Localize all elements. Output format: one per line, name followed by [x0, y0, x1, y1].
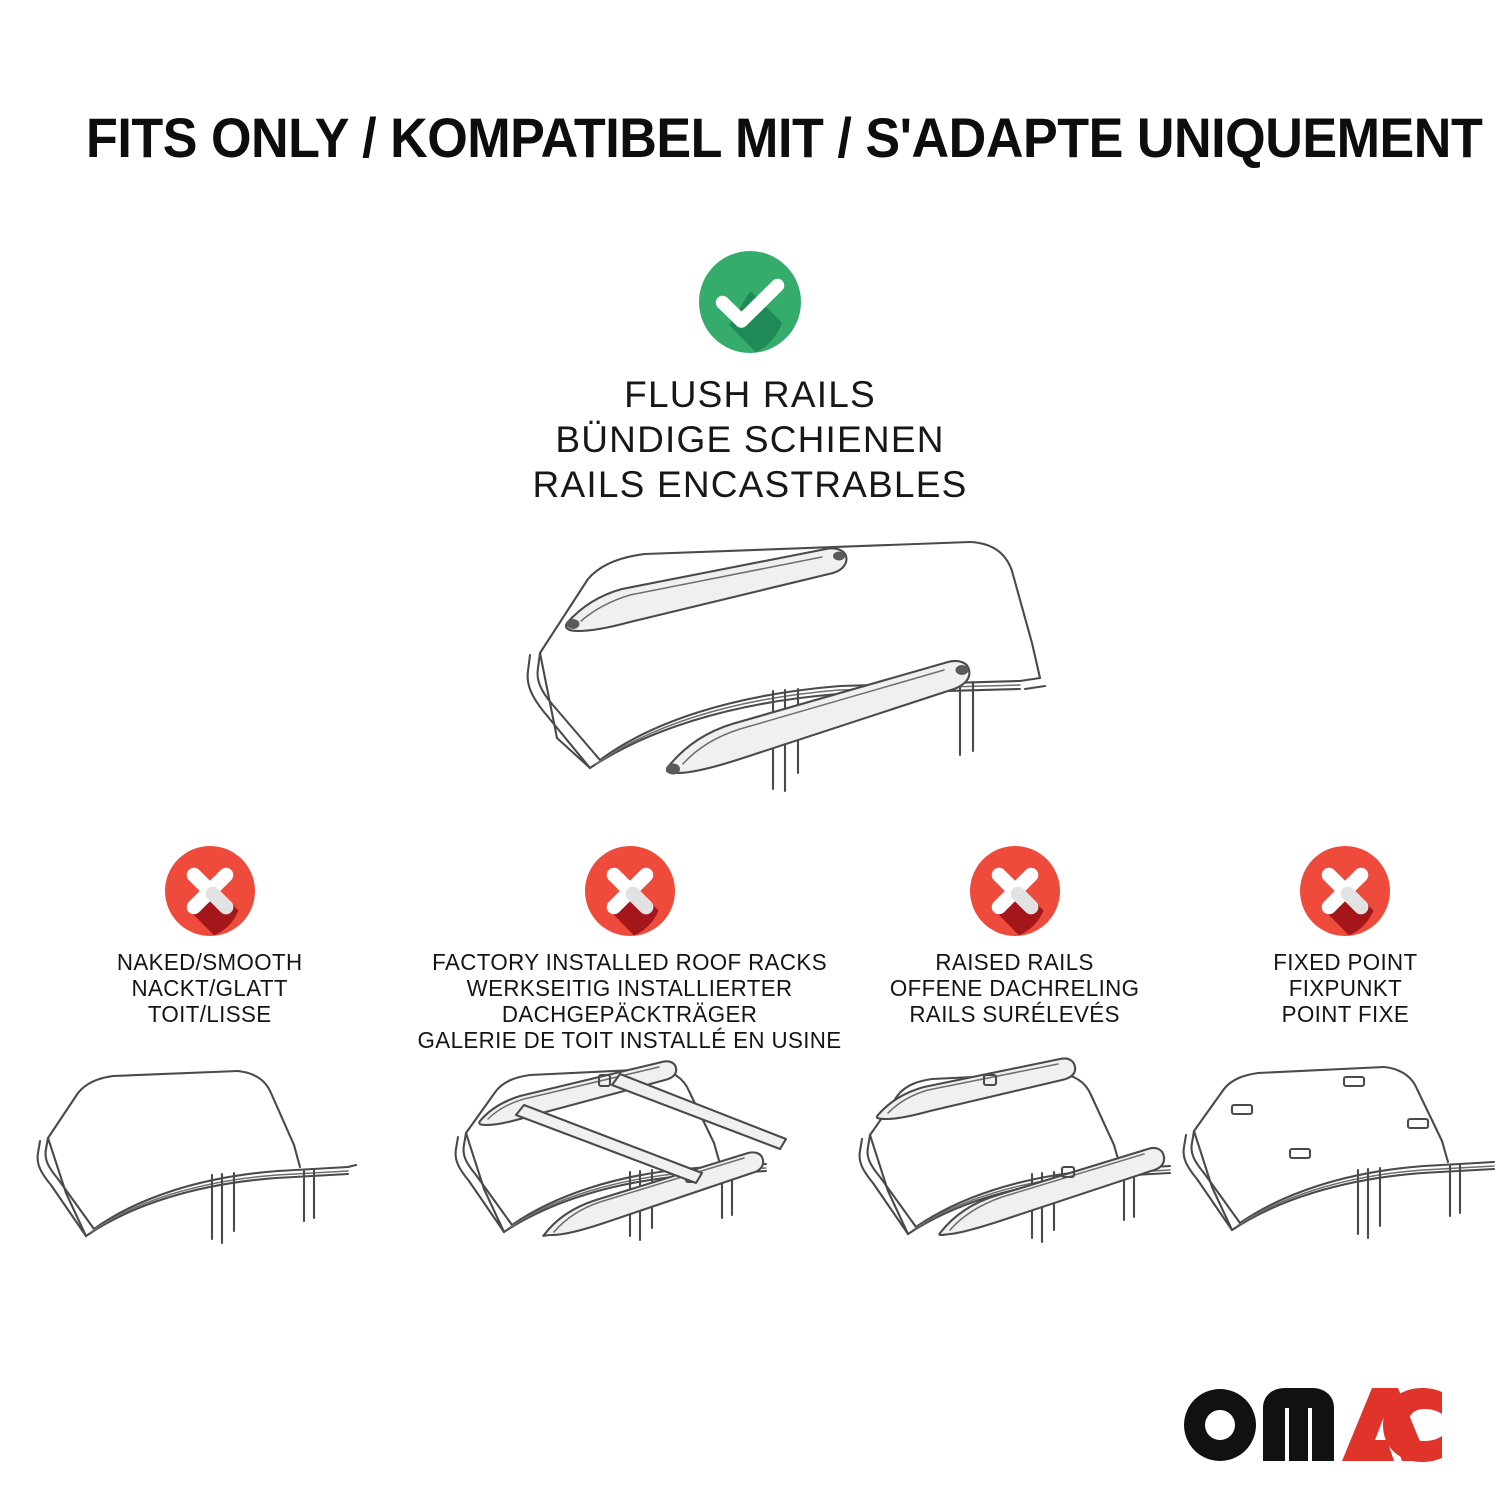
incompatible-caption: NAKED/SMOOTH NACKT/GLATT TOIT/LISSE [117, 949, 303, 1027]
car-roof-flush-rails-illustration [440, 523, 1060, 823]
caption-line-fr: TOIT/LISSE [117, 1001, 303, 1027]
omac-logo-svg [1184, 1388, 1442, 1462]
compatible-line-fr: RAILS ENCASTRABLES [533, 462, 968, 507]
x-circle-svg [969, 845, 1061, 937]
car-roof-naked-smooth-illustration [8, 1053, 408, 1293]
incompatible-caption: RAISED RAILS OFFENE DACHRELING RAILS SUR… [890, 949, 1140, 1027]
incompatible-item-naked-smooth: NAKED/SMOOTH NACKT/GLATT TOIT/LISSE [0, 845, 420, 1053]
x-circle-svg [584, 845, 676, 937]
car-roof-factory-roof-racks-illustration [424, 1053, 824, 1293]
incompatible-caption: FIXED POINT FIXPUNKT POINT FIXE [1273, 949, 1417, 1027]
car-roof-fixed-point-illustration [1162, 1053, 1500, 1293]
caption-line-de: NACKT/GLATT [117, 975, 303, 1001]
x-circle-icon [164, 845, 256, 937]
caption-line-fr: POINT FIXE [1273, 1001, 1417, 1027]
caption-line-fr: GALERIE DE TOIT INSTALLÉ EN USINE [418, 1027, 842, 1053]
caption-line-fr: RAILS SURÉLEVÉS [890, 1001, 1140, 1027]
x-circle-icon [1299, 845, 1391, 937]
car-roof-fixed-point-svg [1162, 1053, 1500, 1293]
caption-line-en: NAKED/SMOOTH [117, 949, 303, 975]
incompatible-item-fixed-point: FIXED POINT FIXPUNKT POINT FIXE [1190, 845, 1500, 1053]
x-circle-icon [584, 845, 676, 937]
compatible-section: FLUSH RAILS BÜNDIGE SCHIENEN RAILS ENCAS… [0, 250, 1500, 823]
incompatible-caption: FACTORY INSTALLED ROOF RACKS WERKSEITIG … [418, 949, 842, 1053]
check-circle-svg [698, 250, 802, 354]
car-roof-factory-roof-racks-svg [424, 1053, 824, 1293]
compatible-line-de: BÜNDIGE SCHIENEN [533, 417, 968, 462]
caption-line-de-2: DACHGEPÄCKTRÄGER [418, 1001, 842, 1027]
omac-logo [1184, 1388, 1442, 1462]
caption-line-en: FIXED POINT [1273, 949, 1417, 975]
incompatible-section: NAKED/SMOOTH NACKT/GLATT TOIT/LISSE [0, 845, 1500, 1053]
car-roof-flush-rails-svg [440, 523, 1060, 823]
incompatible-item-factory-roof-racks: FACTORY INSTALLED ROOF RACKS WERKSEITIG … [420, 845, 840, 1053]
x-circle-svg [1299, 845, 1391, 937]
check-circle-icon [698, 250, 802, 354]
caption-line-en: RAISED RAILS [890, 949, 1140, 975]
x-circle-svg [164, 845, 256, 937]
caption-line-de: OFFENE DACHRELING [890, 975, 1140, 1001]
incompatible-item-raised-rails: RAISED RAILS OFFENE DACHRELING RAILS SUR… [840, 845, 1190, 1053]
compatible-caption: FLUSH RAILS BÜNDIGE SCHIENEN RAILS ENCAS… [533, 372, 968, 507]
car-roof-naked-smooth-svg [8, 1053, 408, 1293]
caption-line-en: FACTORY INSTALLED ROOF RACKS [418, 949, 842, 975]
caption-line-de-1: WERKSEITIG INSTALLIERTER [418, 975, 842, 1001]
caption-line-de: FIXPUNKT [1273, 975, 1417, 1001]
x-circle-icon [969, 845, 1061, 937]
page-title: FITS ONLY / KOMPATIBEL MIT / S'ADAPTE UN… [86, 108, 1332, 168]
compatible-line-en: FLUSH RAILS [533, 372, 968, 417]
